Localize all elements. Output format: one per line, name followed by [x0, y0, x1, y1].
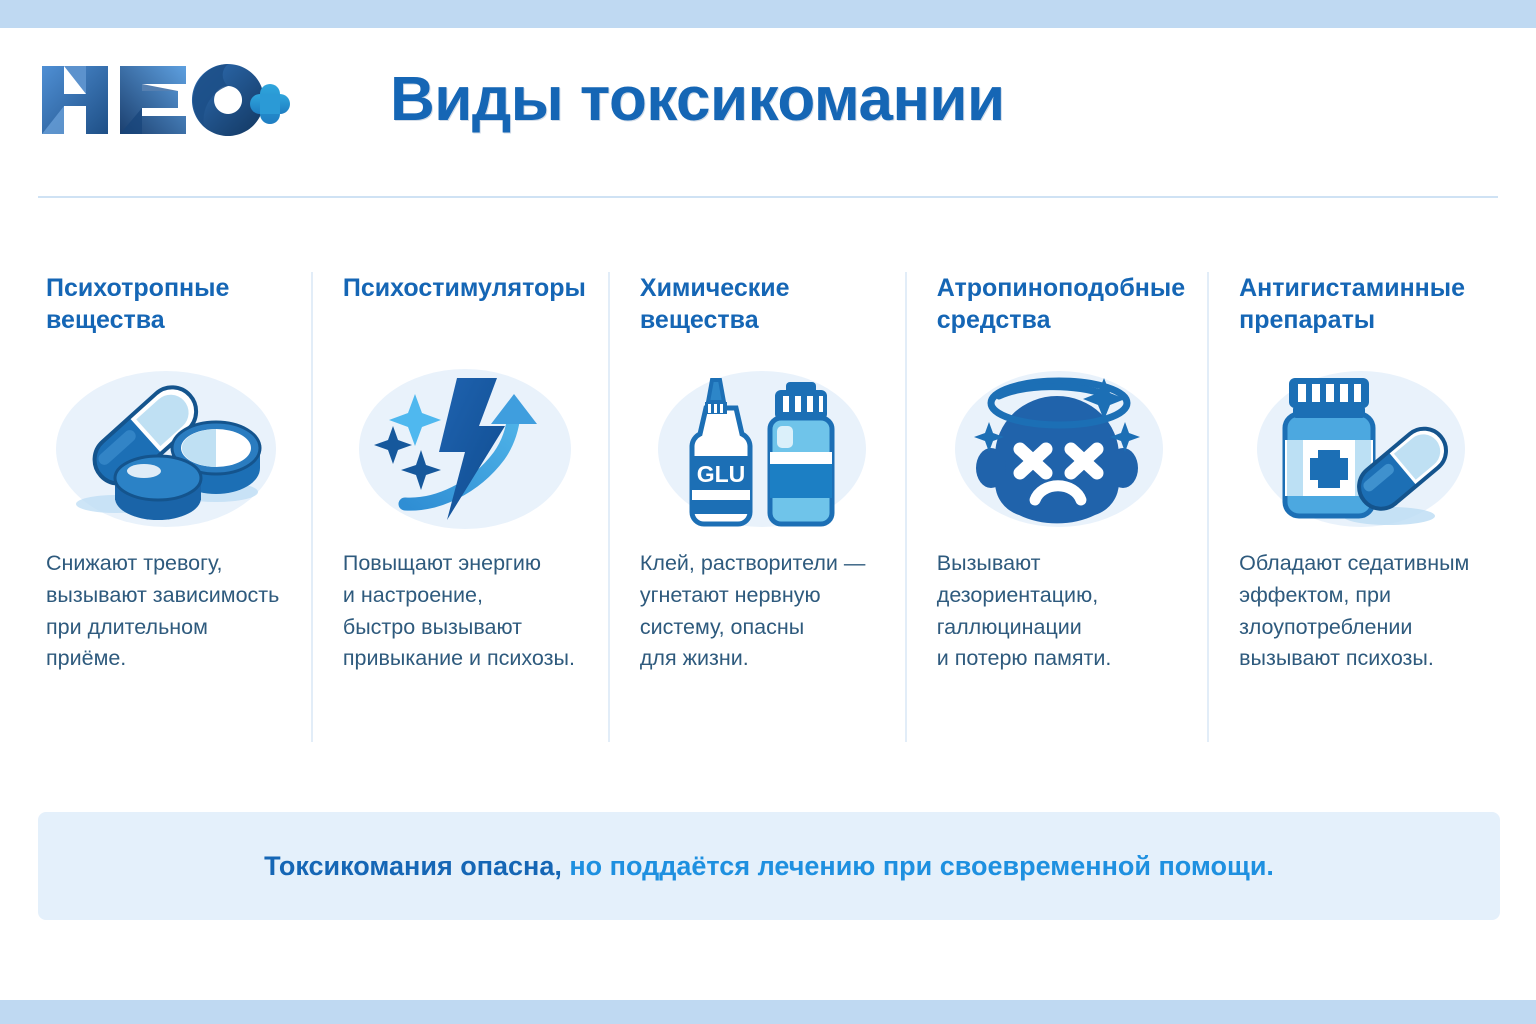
category-title: Атропиноподобные средства [937, 272, 1185, 344]
lightning-bolt-arrow-icon [343, 354, 586, 544]
category-column-stimulants: Психостимуляторы [311, 272, 608, 742]
pills-capsule-icon [46, 354, 289, 544]
banner-strong-text: Токсикомания опасна, [264, 851, 562, 881]
top-edge-strip [0, 0, 1536, 28]
category-title: Химические вещества [640, 272, 883, 344]
bottom-banner: Токсикомания опасна, но поддаётся лечени… [38, 812, 1500, 920]
page-title: Виды токсикомании [338, 69, 1498, 131]
category-body: Снижают тревогу, вызывают зависимость пр… [46, 548, 289, 675]
category-body: Повыщают энергию и настроение, быстро вы… [343, 548, 586, 675]
category-body: Клей, растворители — угнетают нервную си… [640, 548, 883, 675]
banner-text: Токсикомания опасна, но поддаётся лечени… [264, 853, 1274, 880]
category-column-atropine: Атропиноподобные средства [905, 272, 1207, 742]
infographic-page: Виды токсикомании Психотропные вещества [0, 0, 1536, 1024]
category-body: Вызывают дезориентацию, галлюцинации и п… [937, 548, 1185, 675]
category-columns: Психотропные вещества [38, 272, 1504, 742]
bottom-edge-strip [0, 1000, 1536, 1024]
dizzy-face-icon [937, 354, 1185, 544]
banner-rest-text: но поддаётся лечению при своевременной п… [562, 851, 1274, 881]
category-title: Психостимуляторы [343, 272, 586, 344]
glue-solvent-bottles-icon: GLU [640, 354, 883, 544]
category-column-psychotropic: Психотропные вещества [38, 272, 311, 742]
category-body: Обладают седативным эффектом, при злоупо… [1239, 548, 1482, 675]
category-column-chemicals: Химические вещества [608, 272, 905, 742]
header: Виды токсикомании [38, 40, 1498, 160]
category-title: Антигистаминные препараты [1239, 272, 1482, 344]
category-title: Психотропные вещества [46, 272, 289, 344]
glue-label: GLU [697, 461, 746, 487]
neo-plus-logo [38, 55, 338, 145]
category-column-antihistamine: Антигистаминные препараты [1207, 272, 1504, 742]
header-divider [38, 196, 1498, 198]
medicine-bottle-capsule-icon [1239, 354, 1482, 544]
